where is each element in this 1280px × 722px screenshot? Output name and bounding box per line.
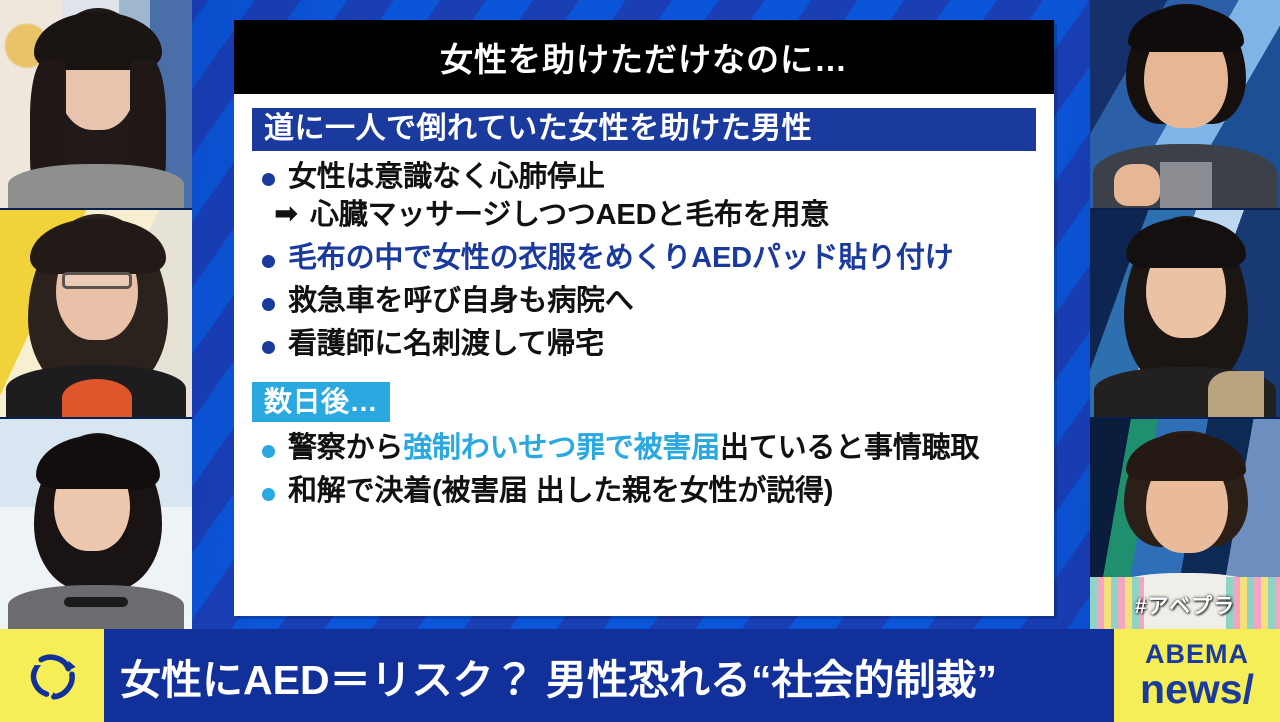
bottom-banner: 女性にAED＝リスク？ 男性恐れる“社会的制裁” ABEMA news/ (0, 629, 1280, 722)
arrow-right-icon: ➡ (274, 197, 298, 231)
bullet-dot-icon (262, 488, 275, 501)
section-two: 数日後… 警察から強制わいせつ罪で被害届出ていると事情聴取 和解で決着(被害届 … (252, 376, 1036, 509)
abema-wordmark: ABEMA (1145, 641, 1249, 668)
person-figure (0, 210, 192, 418)
panelist-right-top[interactable] (1090, 0, 1280, 210)
list-item-label: 和解で決着(被害届 出した親を女性が説得) (288, 475, 833, 507)
card-title: 女性を助けただけなのに… (234, 20, 1054, 94)
person-figure (1090, 210, 1280, 418)
bullet-dot-icon (262, 255, 275, 268)
headline-text: 女性にAED＝リスク？ 男性恐れる“社会的制裁” (104, 629, 1114, 722)
recycle-arrows-icon (23, 647, 81, 705)
person-figure (1090, 0, 1280, 208)
section-one: 道に一人で倒れていた女性を助けた男性 女性は意識なく心肺停止 ➡ 心臓マッサージ… (252, 108, 1036, 362)
list-item-label: 救急車を呼び自身も病院へ (288, 285, 634, 317)
list-item-label: 毛布の中で女性の衣服をめくりAEDパッド貼り付け (288, 242, 953, 274)
broadcast-screen: #アベプラ 女性を助けただけなのに… 道に一人で倒れていた女性を助けた男性 女性… (0, 0, 1280, 722)
panelist-left-middle[interactable] (0, 210, 192, 420)
section-one-heading: 道に一人で倒れていた女性を助けた男性 (252, 108, 1036, 151)
bullet-dot-icon (262, 298, 275, 311)
list-item-label-part: 警察から (288, 432, 403, 464)
panelist-left-bottom[interactable] (0, 419, 192, 629)
section-one-bullet-list: 女性は意識なく心肺停止 ➡ 心臓マッサージしつつAEDと毛布を用意 毛布の中で女… (252, 160, 1036, 362)
panelist-left-top[interactable] (0, 0, 192, 210)
section-two-heading: 数日後… (252, 382, 390, 422)
list-item: 看護師に名刺渡して帰宅 (258, 327, 1036, 361)
list-item-label-tail: 出ていると事情聴取 (720, 432, 979, 464)
card-body: 道に一人で倒れていた女性を助けた男性 女性は意識なく心肺停止 ➡ 心臓マッサージ… (234, 94, 1054, 616)
right-video-column: #アベプラ (1090, 0, 1280, 629)
list-item-label-highlight: 強制わいせつ罪で (403, 432, 633, 464)
info-card: 女性を助けただけなのに… 道に一人で倒れていた女性を助けた男性 女性は意識なく心… (234, 20, 1054, 616)
list-item-label: 看護師に名刺渡して帰宅 (288, 328, 604, 360)
bullet-dot-icon (262, 173, 275, 186)
list-item-label: 女性は意識なく心肺停止 (288, 161, 605, 193)
list-item: 和解で決着(被害届 出した親を女性が説得) (258, 474, 1036, 508)
list-item-sub: ➡ 心臓マッサージしつつAEDと毛布を用意 (258, 198, 1036, 232)
panelist-right-bottom[interactable]: #アベプラ (1090, 419, 1280, 629)
abema-news-logo: ABEMA news/ (1114, 629, 1280, 722)
section-two-bullet-list: 警察から強制わいせつ罪で被害届出ていると事情聴取 和解で決着(被害届 出した親を… (252, 431, 1036, 508)
recycle-badge (0, 629, 104, 722)
list-item: 毛布の中で女性の衣服をめくりAEDパッド貼り付け (258, 241, 1036, 275)
list-item-label-highlight-2: 被害届 (634, 432, 720, 464)
bullet-dot-icon (262, 445, 275, 458)
list-item-label: 心臓マッサージしつつAEDと毛布を用意 (310, 199, 829, 231)
bullet-dot-icon (262, 341, 275, 354)
list-item: 救急車を呼び自身も病院へ (258, 284, 1036, 318)
person-figure (0, 0, 192, 208)
list-item: 女性は意識なく心肺停止 (258, 160, 1036, 194)
list-item: 警察から強制わいせつ罪で被害届出ていると事情聴取 (258, 431, 1036, 465)
panelist-right-middle[interactable] (1090, 210, 1280, 420)
left-video-column (0, 0, 192, 629)
person-figure (0, 419, 192, 629)
hashtag-overlay: #アベプラ (1135, 590, 1235, 620)
news-wordmark: news/ (1140, 669, 1254, 710)
